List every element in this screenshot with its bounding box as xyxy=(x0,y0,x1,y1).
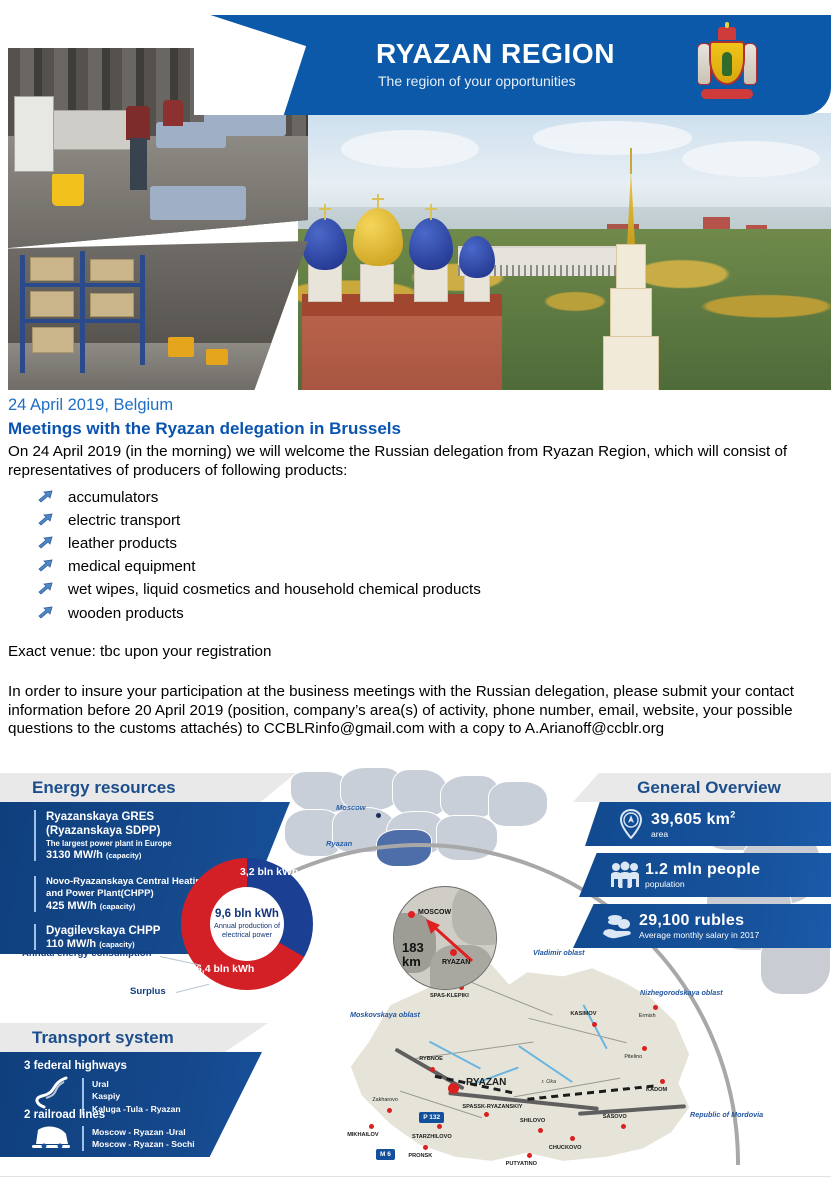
city-label: MIKHAILOV xyxy=(347,1132,378,1138)
river-label: r. Oka xyxy=(542,1079,556,1085)
city-label: PUTYATINO xyxy=(506,1161,537,1167)
product-label: leather products xyxy=(68,535,177,552)
cathedral xyxy=(302,248,512,390)
railroads-title: 2 railroad lines xyxy=(24,1109,105,1121)
road-badge-p132: P 132 xyxy=(419,1112,444,1123)
map-pin-icon xyxy=(611,809,651,839)
city-marker xyxy=(527,1153,532,1158)
list-item: leather products xyxy=(38,532,831,555)
footer-divider xyxy=(0,1176,831,1177)
arrow-bullet-icon xyxy=(38,581,56,597)
distance-value: 183 km xyxy=(402,941,424,968)
city-label: SASOVO xyxy=(603,1114,627,1120)
moscow-ryazan-distance-inset: MOSCOW RYAZAN 183 km xyxy=(393,886,497,990)
moscow-marker xyxy=(408,911,415,918)
region-label-moskovskaya: Moskovskaya oblast xyxy=(350,1010,420,1019)
stat-text: 29,100 rubles Average monthly salary in … xyxy=(639,912,759,940)
product-label: medical equipment xyxy=(68,558,195,575)
overview-label-ryazan: Ryazan xyxy=(326,839,352,848)
stat-population: 1.2 mln people population xyxy=(579,853,831,897)
city-label: SPASSK-RYAZANSKIY xyxy=(462,1104,522,1110)
city-marker xyxy=(621,1124,626,1129)
money-hand-icon xyxy=(599,912,639,940)
donut-label-surplus: Surplus xyxy=(130,986,166,997)
region-label-vladimir: Vladimir oblast xyxy=(533,948,585,957)
city-marker xyxy=(592,1022,597,1027)
donut-center: 9,6 bln kWh Annual production of electri… xyxy=(210,887,284,961)
city-label: SPAS-KLEPIKI xyxy=(430,993,469,999)
city-marker xyxy=(423,1145,428,1150)
event-date-location: 24 April 2019, Belgium xyxy=(8,396,831,415)
general-overview-heading: General Overview xyxy=(573,773,831,802)
list-item: wet wipes, liquid cosmetics and househol… xyxy=(38,578,831,601)
arrow-bullet-icon xyxy=(38,535,56,551)
product-label: wet wipes, liquid cosmetics and househol… xyxy=(68,581,481,598)
arrow-bullet-icon xyxy=(38,558,56,574)
city-label: Zakharovo xyxy=(372,1097,397,1103)
city-label: PRONSK xyxy=(408,1153,432,1159)
cloud-icon xyxy=(682,141,821,177)
article-headline: Meetings with the Ryazan delegation in B… xyxy=(8,419,831,439)
stat-area: 39,605 km2 area xyxy=(585,802,831,846)
moscow-marker xyxy=(376,813,381,818)
page-title: RYAZAN REGION xyxy=(376,38,615,70)
power-plant-entry: Dyagilevskaya CHPP 110 MW/h (capacity) xyxy=(34,924,160,950)
inset-label-moscow: MOSCOW xyxy=(418,909,451,916)
energy-resources-heading: Energy resources xyxy=(0,773,296,802)
power-plant-entry: Ryazanskaya GRES (Ryazanskaya SDPP) The … xyxy=(34,810,172,861)
list-item: wooden products xyxy=(38,602,831,625)
product-label: electric transport xyxy=(68,512,180,529)
transport-system-heading: Transport system xyxy=(0,1023,268,1052)
brand-banner: RYAZAN REGION The region of your opportu… xyxy=(194,15,831,115)
hero-banner: RYAZAN REGION The region of your opportu… xyxy=(0,0,831,390)
list-item: medical equipment xyxy=(38,555,831,578)
article-intro: On 24 April 2019 (in the morning) we wil… xyxy=(8,443,831,480)
ryazan-kremlin-photo xyxy=(298,113,831,390)
city-label: RYBNOE xyxy=(419,1056,443,1062)
city-marker xyxy=(387,1108,392,1113)
city-label: SHILOVO xyxy=(520,1118,545,1124)
city-marker xyxy=(484,1112,489,1117)
city-label: STARZHILOVO xyxy=(412,1134,452,1140)
power-plant-entry: Novo-Ryazanskaya Central Heating and Pow… xyxy=(34,876,207,912)
product-label: accumulators xyxy=(68,489,158,506)
city-label: Ermish xyxy=(639,1013,656,1019)
arrow-bullet-icon xyxy=(38,489,56,505)
city-label: KADOM xyxy=(646,1087,667,1093)
train-icon xyxy=(28,1124,74,1157)
region-label-mordovia: Republic of Mordovia xyxy=(690,1110,763,1119)
highways-title: 3 federal highways xyxy=(24,1060,127,1072)
cloud-icon xyxy=(341,130,480,169)
region-label-nizhegorodskaya: Nizhegorodskaya oblast xyxy=(640,988,723,997)
donut-value-surplus: 3,2 bln kWh xyxy=(240,866,298,878)
ryazan-coat-of-arms-icon xyxy=(697,27,757,101)
donut-label-consumption: Annual energy consumption xyxy=(22,948,152,959)
stat-text: 39,605 km2 area xyxy=(651,809,736,838)
overview-label-moscow: Moscow xyxy=(336,803,366,812)
arrow-bullet-icon xyxy=(38,512,56,528)
people-icon xyxy=(605,861,645,889)
city-label: CHUCKOVO xyxy=(549,1145,582,1151)
inset-label-ryazan: RYAZAN xyxy=(442,959,470,966)
product-label: wooden products xyxy=(68,605,184,622)
arrow-bullet-icon xyxy=(38,605,56,621)
venue-note: Exact venue: tbc upon your registration xyxy=(8,643,831,662)
city-label: KASIMOV xyxy=(570,1011,596,1017)
stat-text: 1.2 mln people population xyxy=(645,861,760,889)
product-list: accumulators electric transport leather … xyxy=(38,486,831,625)
railroads-list: Moscow - Ryazan -Ural Moscow - Ryazan - … xyxy=(82,1126,195,1151)
registration-instructions: In order to insure your participation at… xyxy=(8,683,831,739)
list-item: accumulators xyxy=(38,486,831,509)
city-label-ryazan: RYAZAN xyxy=(466,1077,506,1088)
bell-tower xyxy=(598,146,664,390)
city-marker xyxy=(369,1124,374,1129)
city-label: Pitelino xyxy=(624,1054,642,1060)
ryazan-marker xyxy=(450,949,457,956)
article-body: 24 April 2019, Belgium Meetings with the… xyxy=(8,396,831,739)
warehouse-photo xyxy=(8,241,308,390)
road-badge-m6: M 6 xyxy=(376,1149,395,1160)
city-marker xyxy=(430,1067,435,1072)
page-subtitle: The region of your opportunities xyxy=(378,73,576,89)
donut-value-consumption: 6,4 bln kWh xyxy=(196,963,254,975)
stat-salary: 29,100 rubles Average monthly salary in … xyxy=(573,904,831,948)
list-item: electric transport xyxy=(38,509,831,532)
capital-marker xyxy=(448,1083,459,1094)
